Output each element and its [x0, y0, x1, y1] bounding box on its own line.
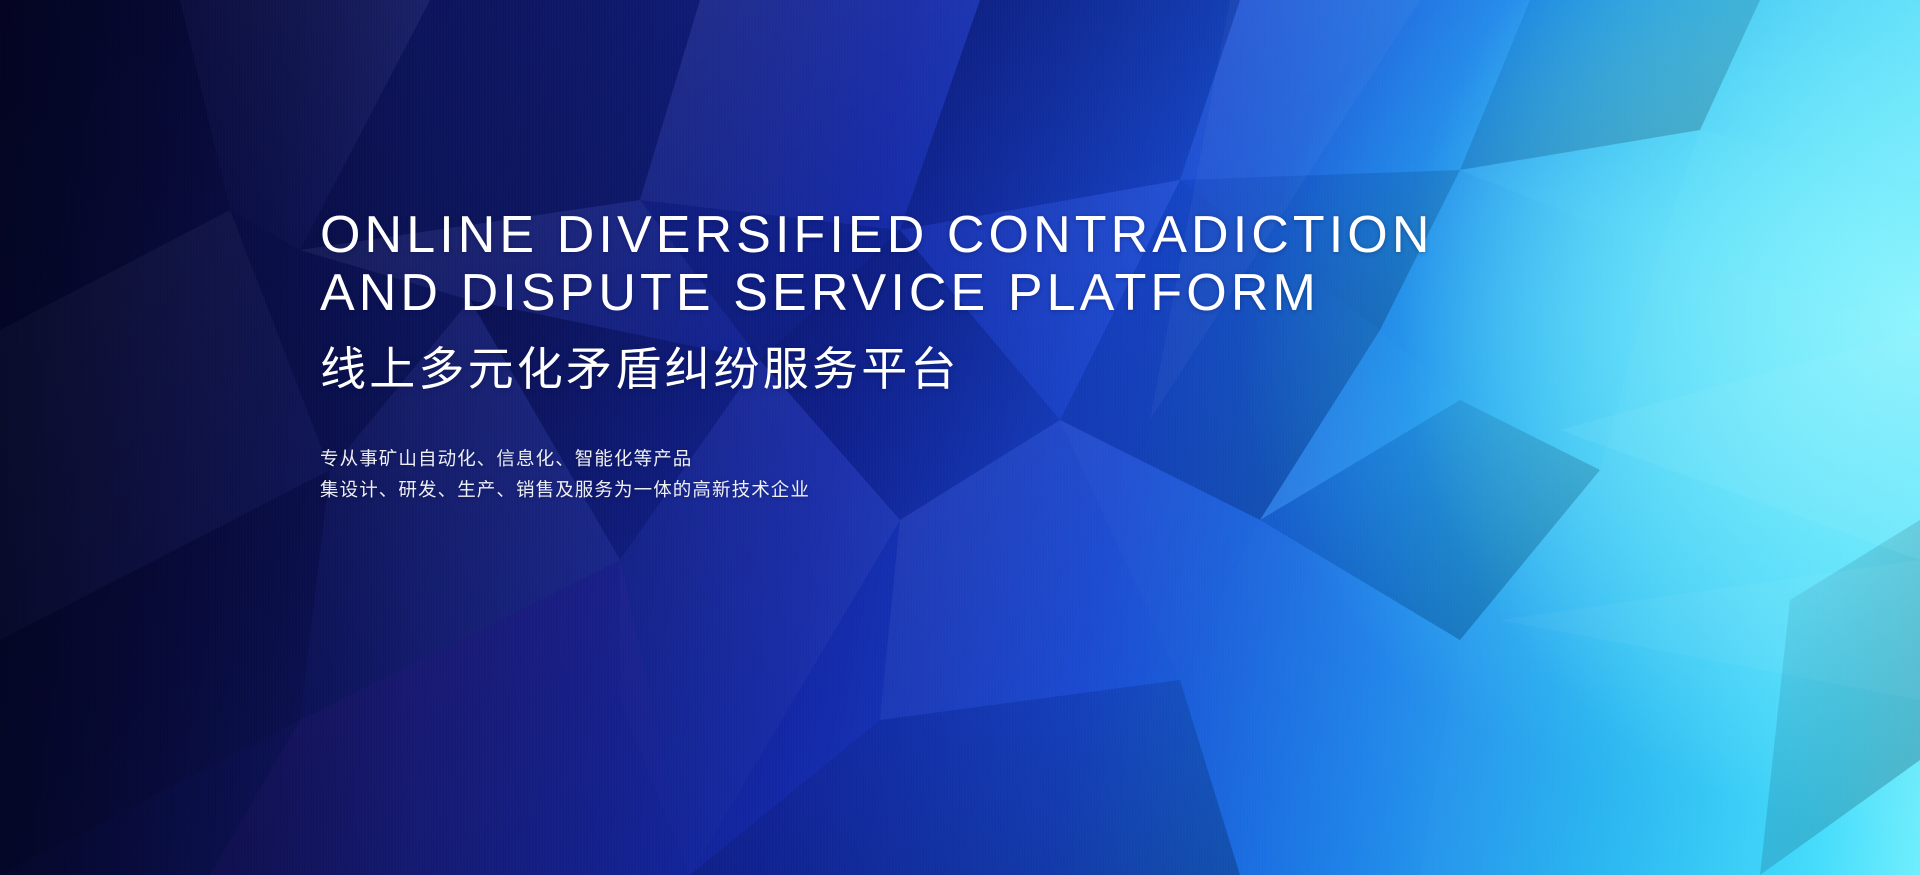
subtitle-group: 专从事矿山自动化、信息化、智能化等产品 集设计、研发、生产、销售及服务为一体的高…: [320, 443, 1434, 505]
heading-chinese: 线上多元化矛盾纠纷服务平台: [320, 341, 1434, 397]
subtitle-line-1: 专从事矿山自动化、信息化、智能化等产品: [320, 443, 1434, 474]
hero-text-block: ONLINE DIVERSIFIED CONTRADICTION AND DIS…: [320, 206, 1434, 505]
heading-english-line-1: ONLINE DIVERSIFIED CONTRADICTION: [320, 206, 1434, 264]
heading-english-line-2: AND DISPUTE SERVICE PLATFORM: [320, 264, 1434, 322]
hero-banner: ONLINE DIVERSIFIED CONTRADICTION AND DIS…: [0, 0, 1920, 875]
subtitle-line-2: 集设计、研发、生产、销售及服务为一体的高新技术企业: [320, 474, 1434, 505]
